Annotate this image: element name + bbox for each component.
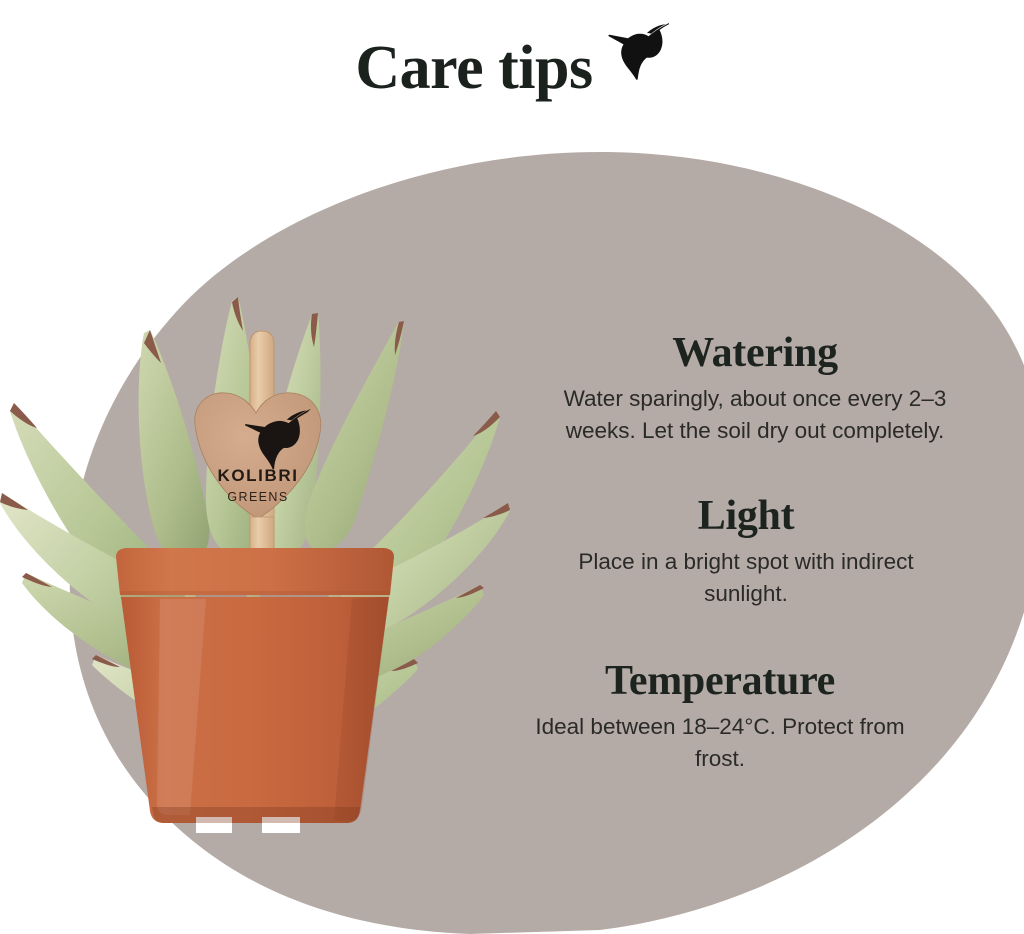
care-section-watering: Watering Water sparingly, about once eve…: [505, 330, 1005, 447]
tag-subbrand-label: GREENS: [227, 490, 288, 504]
care-body-temperature: Ideal between 18–24°C. Protect from fros…: [520, 711, 920, 775]
care-body-watering: Water sparingly, about once every 2–3 we…: [540, 383, 970, 447]
page-header: Care tips: [0, 0, 1024, 128]
tag-brand-label: KOLIBRI: [217, 466, 298, 485]
care-section-light: Light Place in a bright spot with indire…: [487, 493, 1005, 610]
plant-pot: [116, 548, 394, 833]
care-body-light: Place in a bright spot with indirect sun…: [551, 546, 941, 610]
care-tips-list: Watering Water sparingly, about once eve…: [505, 330, 1005, 795]
page-title: Care tips: [355, 37, 592, 99]
care-heading-watering: Watering: [505, 330, 1005, 377]
care-heading-light: Light: [487, 493, 1005, 540]
plant-photo: KOLIBRI GREENS: [0, 255, 510, 875]
care-section-temperature: Temperature Ideal between 18–24°C. Prote…: [435, 658, 1005, 775]
hummingbird-icon: [607, 22, 669, 80]
pot-base-shadow: [152, 807, 360, 823]
pot-rim: [116, 548, 394, 595]
care-heading-temperature: Temperature: [435, 658, 1005, 705]
